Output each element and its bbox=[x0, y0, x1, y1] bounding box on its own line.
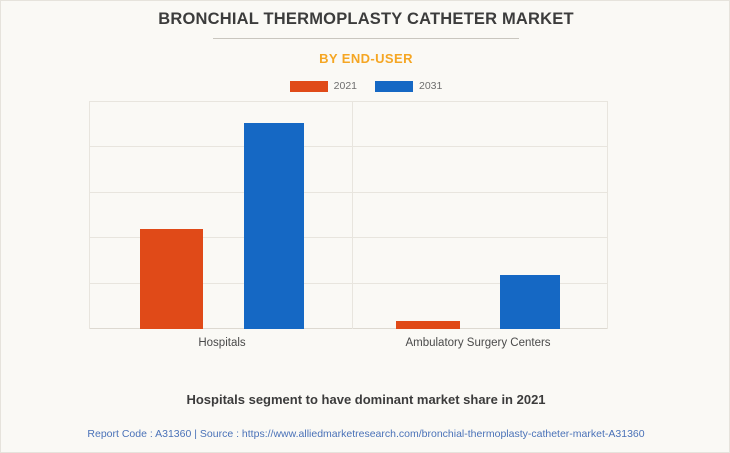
legend-swatch-2031 bbox=[375, 81, 413, 92]
chart-subtitle: BY END-USER bbox=[1, 51, 730, 66]
chart-legend: 2021 2031 bbox=[1, 80, 730, 92]
title-divider bbox=[213, 38, 519, 39]
legend-swatch-2021 bbox=[290, 81, 328, 92]
gridline-horizontal bbox=[89, 192, 608, 193]
source-url-text: Source : https://www.alliedmarketresearc… bbox=[200, 428, 645, 440]
x-axis-label-ambulatory-surgery-centers: Ambulatory Surgery Centers bbox=[369, 335, 587, 351]
plot-area bbox=[89, 102, 608, 329]
chart-footnote: Hospitals segment to have dominant marke… bbox=[1, 392, 730, 407]
legend-label-2031: 2031 bbox=[419, 80, 442, 92]
gridline-horizontal bbox=[89, 101, 608, 102]
gridline-vertical bbox=[352, 102, 353, 329]
bar-2021-ambulatory-surgery-centers[interactable] bbox=[396, 321, 460, 329]
page-title: BRONCHIAL THERMOPLASTY CATHETER MARKET bbox=[1, 10, 730, 29]
gridline-vertical bbox=[607, 102, 608, 329]
bar-2031-ambulatory-surgery-centers[interactable] bbox=[500, 275, 560, 329]
gridline-horizontal bbox=[89, 146, 608, 147]
chart-card: BRONCHIAL THERMOPLASTY CATHETER MARKET B… bbox=[0, 0, 730, 453]
gridline-vertical bbox=[89, 102, 90, 329]
x-axis-label-hospitals: Hospitals bbox=[113, 335, 331, 351]
legend-item-2031[interactable]: 2031 bbox=[375, 80, 442, 92]
bar-2021-hospitals[interactable] bbox=[140, 229, 203, 329]
source-line[interactable]: Report Code : A31360 | Source : https://… bbox=[1, 428, 730, 440]
source-separator: | bbox=[194, 428, 197, 440]
bar-2031-hospitals[interactable] bbox=[244, 123, 304, 329]
legend-label-2021: 2021 bbox=[334, 80, 357, 92]
legend-item-2021[interactable]: 2021 bbox=[290, 80, 357, 92]
report-code-text: Report Code : A31360 bbox=[87, 428, 191, 440]
